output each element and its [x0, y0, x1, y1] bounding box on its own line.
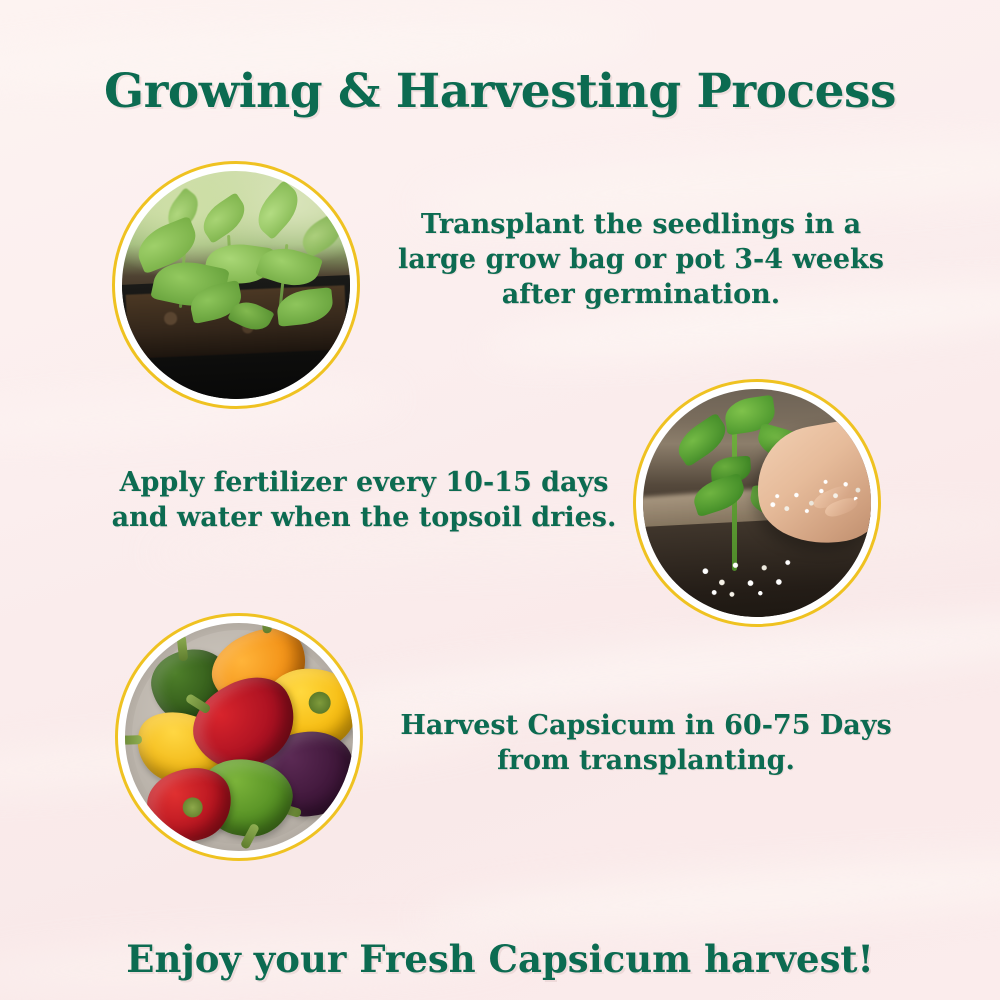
pepper-stalk [308, 691, 332, 715]
step-2-caption: Apply fertilizer every 10-15 days and wa… [104, 465, 624, 535]
background-streak [419, 846, 1000, 945]
step-1-photo-frame [112, 161, 360, 409]
pepper-stalk [260, 623, 272, 634]
pepper-seedlings-in-tray-image [122, 171, 350, 399]
step-3-photo-frame [115, 613, 363, 861]
step-2-photo-frame [633, 379, 881, 627]
seedling-leaf [296, 212, 348, 258]
pepper-stalk [125, 735, 142, 745]
step-3-caption: Harvest Capsicum in 60-75 Days from tran… [372, 708, 920, 778]
hand-applying-fertilizer-image [643, 389, 871, 617]
footer-message: Enjoy your Fresh Capsicum harvest! [0, 937, 1000, 982]
pepper-stalk [180, 795, 205, 820]
seedling-leaf [249, 180, 308, 240]
bowl-of-bell-peppers-image [125, 623, 353, 851]
seedling-leaf [195, 192, 252, 244]
step-1-caption: Transplant the seedlings in a large grow… [392, 207, 890, 312]
infographic-poster: Growing & Harvesting Process Transplant … [0, 0, 1000, 1000]
page-title: Growing & Harvesting Process [0, 64, 1000, 119]
